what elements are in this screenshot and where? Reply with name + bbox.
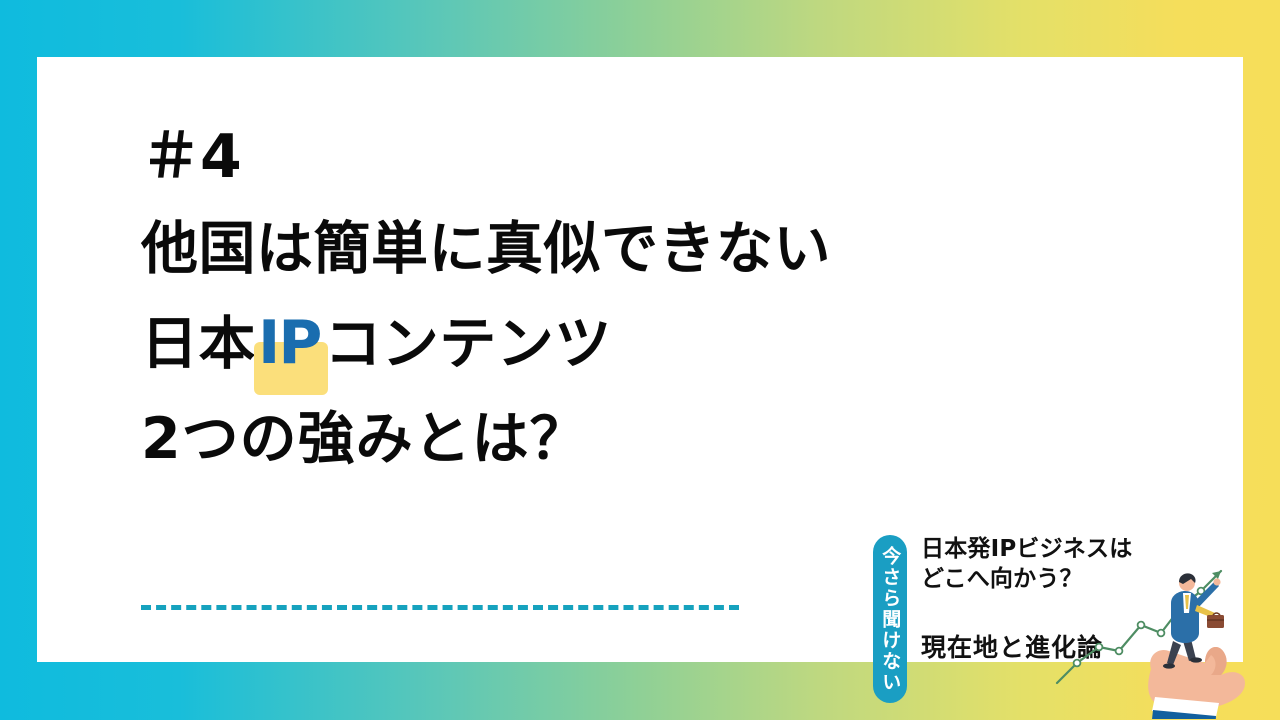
- slide-canvas: ＃4 他国は簡単に真似できない 日本IPコンテンツ 2つの強みとは？ 今さら聞け…: [0, 0, 1280, 720]
- badge-vertical-pill: 今さら聞けない: [873, 535, 907, 703]
- headline-line-3: 2つの強みとは？: [141, 393, 901, 485]
- ip-highlight: IP: [256, 295, 324, 392]
- headline-block: ＃4 他国は簡単に真似できない 日本IPコンテンツ 2つの強みとは？: [141, 127, 901, 485]
- headline-line-2-prefix: 日本: [141, 311, 256, 377]
- headline-line-1: 他国は簡単に真似できない: [141, 203, 901, 295]
- white-content-card: ＃4 他国は簡単に真似できない 日本IPコンテンツ 2つの強みとは？ 今さら聞け…: [37, 57, 1243, 662]
- headline-line-2-suffix: コンテンツ: [324, 311, 612, 377]
- program-badge: 今さら聞けない 日本発IPビジネスは どこへ向かう？ 現在地と進化論: [873, 529, 1273, 719]
- headline-line-2: 日本IPコンテンツ: [141, 295, 901, 392]
- headline-divider: [141, 605, 739, 610]
- episode-number: ＃4: [141, 127, 901, 187]
- growth-illustration: [1055, 551, 1273, 719]
